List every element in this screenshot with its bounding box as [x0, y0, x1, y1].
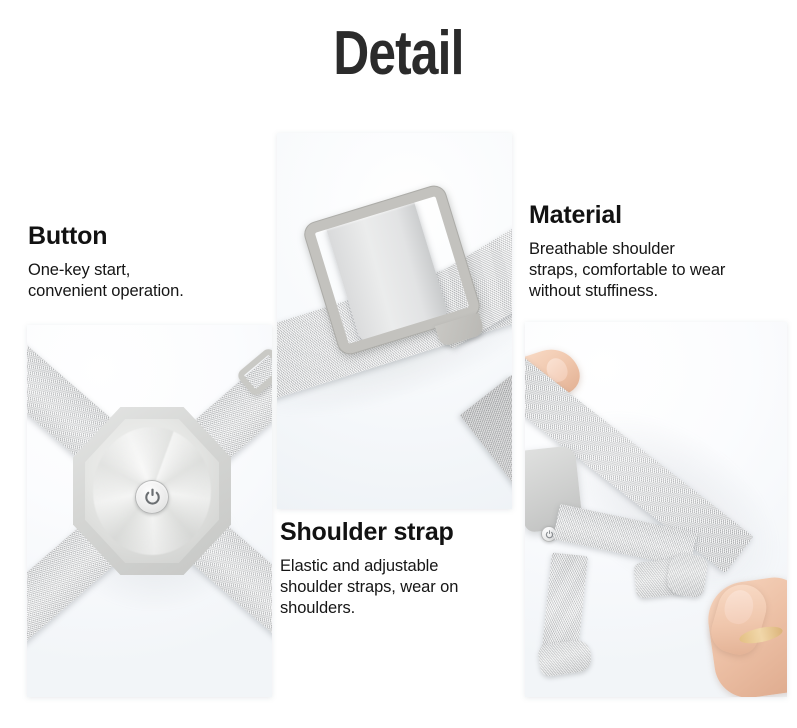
- section-shoulder-strap-heading: Shoulder strap: [280, 518, 512, 547]
- section-shoulder-strap-text: Shoulder strap Elastic and adjustable sh…: [280, 518, 512, 619]
- power-button[interactable]: [135, 480, 169, 514]
- strap-adjuster-buckle-photo: [277, 133, 512, 509]
- detail-page: Detail Button One-key start, convenient …: [0, 0, 797, 728]
- section-material-body-line: Breathable shoulder: [529, 239, 791, 260]
- section-button-heading: Button: [28, 222, 278, 251]
- page-title: Detail: [80, 22, 718, 86]
- strap-bow-loop-back: [665, 552, 708, 599]
- section-material-body-line: without stuffiness.: [529, 281, 791, 302]
- photo-content: [277, 133, 512, 509]
- section-button-body-line: convenient operation.: [28, 281, 278, 302]
- section-shoulder-strap-body-line: Elastic and adjustable: [280, 556, 512, 577]
- hand-stretching-strap-photo: [525, 322, 787, 697]
- section-material-body-line: straps, comfortable to wear: [529, 260, 791, 281]
- power-icon: [144, 488, 161, 506]
- section-material-text: Material Breathable shoulder straps, com…: [529, 201, 791, 302]
- power-button-hub-photo: [27, 325, 272, 697]
- section-shoulder-strap-body-line: shoulder straps, wear on: [280, 577, 512, 598]
- section-button-body: One-key start, convenient operation.: [28, 260, 278, 302]
- section-material-heading: Material: [529, 201, 791, 230]
- section-material-body: Breathable shoulder straps, comfortable …: [529, 239, 791, 302]
- photo-content: [27, 325, 272, 697]
- section-shoulder-strap-body: Elastic and adjustable shoulder straps, …: [280, 556, 512, 619]
- photo-content: [525, 322, 787, 697]
- section-shoulder-strap-body-line: shoulders.: [280, 598, 512, 619]
- section-button-text: Button One-key start, convenient operati…: [28, 222, 278, 302]
- section-button-body-line: One-key start,: [28, 260, 278, 281]
